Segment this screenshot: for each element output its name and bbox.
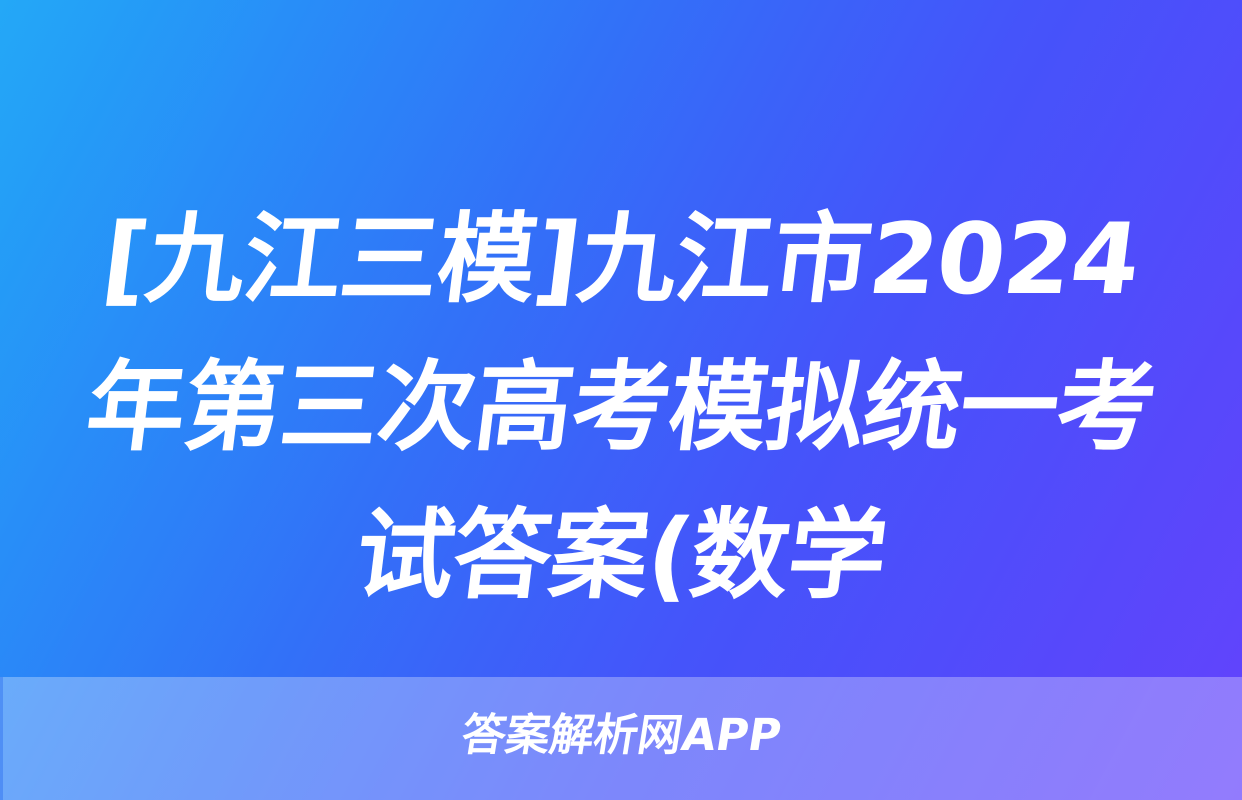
footer-left-edge-accent — [0, 677, 3, 800]
poster-title: [九江三模]九江市2024 年第三次高考模拟统一考 试答案(数学 — [0, 186, 1242, 630]
title-line-1: [九江三模]九江市2024 — [31, 186, 1211, 334]
title-line-2: 年第三次高考模拟统一考 — [31, 334, 1211, 482]
poster-canvas: [九江三模]九江市2024 年第三次高考模拟统一考 试答案(数学 答案解析网AP… — [0, 0, 1242, 800]
app-watermark-label: 答案解析网APP — [458, 712, 784, 760]
title-line-3: 试答案(数学 — [31, 482, 1211, 630]
footer-band: 答案解析网APP — [0, 677, 1242, 800]
